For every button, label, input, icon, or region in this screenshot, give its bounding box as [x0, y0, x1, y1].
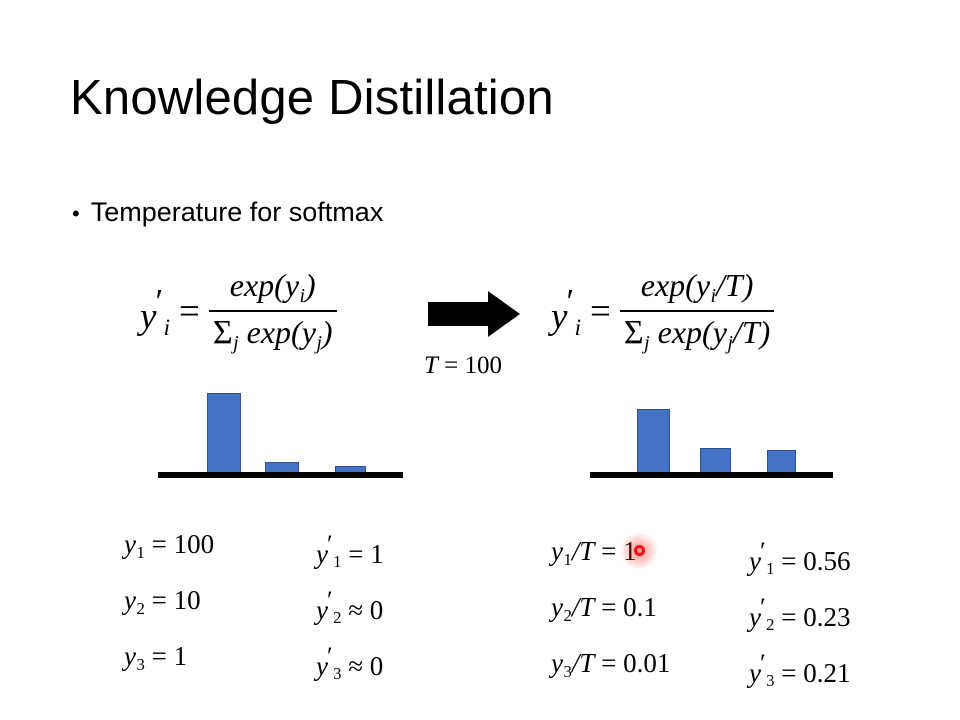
left-prob-2-prime: ′	[327, 585, 333, 614]
right-den-sigma-sub: j	[644, 332, 650, 354]
left-numerator: exp(yi)	[226, 268, 320, 307]
left-logit-2-var: y	[124, 585, 136, 615]
left-prob-2-value: 0	[370, 595, 384, 625]
right-logit-3-value: 0.01	[623, 648, 670, 678]
right-logit-2-sub: 2	[563, 606, 571, 625]
right-num-body: exp(y	[641, 267, 710, 303]
left-logit-2-op: =	[152, 585, 167, 615]
page-title: Knowledge Distillation	[70, 72, 554, 126]
right-prob-row-3: y′3 = 0.21	[749, 650, 850, 690]
left-equals-sign: =	[179, 293, 200, 330]
right-lhs-var: y	[551, 296, 567, 337]
temperature-op: =	[444, 352, 458, 379]
bar-left-0	[207, 393, 241, 475]
left-num-body: exp(y	[230, 267, 299, 303]
right-prob-1-value: 0.56	[803, 546, 850, 576]
left-fraction: exp(yi) Σj exp(yj)	[209, 268, 337, 354]
right-den-tail: /T)	[733, 314, 770, 350]
right-prob-3-value: 0.21	[803, 658, 850, 688]
left-den-tail: )	[322, 314, 333, 350]
right-softmax-formula: y′i = exp(yi/T) Σj exp(yj/T)	[551, 268, 774, 354]
right-prob-2-prime: ′	[760, 592, 766, 621]
right-logit-3-suffix: /T	[572, 648, 595, 678]
left-den-sigma: Σ	[213, 314, 233, 351]
left-softmax-formula: y′i = exp(yi) Σj exp(yj)	[140, 268, 337, 354]
left-prob-row-3: y′3 ≈ 0	[316, 643, 383, 683]
left-prob-2-op: ≈	[348, 595, 363, 625]
left-logit-row-3: y3 = 1	[124, 643, 187, 673]
left-logit-2-value: 10	[174, 585, 201, 615]
right-lhs-sub: i	[575, 315, 581, 340]
right-logit-3-var: y	[551, 648, 563, 678]
right-chart-baseline	[590, 472, 833, 478]
left-prob-2-sub: 2	[333, 608, 341, 627]
left-prob-1-sub: 1	[333, 552, 341, 571]
right-logit-2-suffix: /T	[572, 592, 595, 622]
right-lhs-prime: ′	[566, 282, 574, 321]
right-prob-1-prime: ′	[760, 536, 766, 565]
right-logit-1-suffix: /T	[572, 536, 595, 566]
left-logit-row-1: y1 = 100	[124, 531, 214, 561]
left-logit-2-sub: 2	[136, 599, 144, 618]
right-logit-1-op: =	[601, 536, 616, 566]
right-equals-sign: =	[590, 293, 611, 330]
right-logit-3-sub: 3	[563, 662, 571, 681]
left-num-tail: )	[305, 267, 316, 303]
left-chart-baseline	[158, 472, 403, 478]
bar-right-0	[637, 409, 670, 475]
right-prob-3-op: =	[781, 658, 796, 688]
right-prob-row-2: y′2 = 0.23	[749, 594, 850, 634]
bullet-item-label: Temperature for softmax	[91, 197, 384, 228]
left-prob-row-2: y′2 ≈ 0	[316, 587, 383, 627]
left-logit-row-2: y2 = 10	[124, 587, 201, 617]
temperature-var: T	[424, 352, 438, 379]
left-prob-1-prime: ′	[327, 529, 333, 558]
left-den-sigma-sub: j	[233, 332, 239, 354]
right-den-sigma: Σ	[624, 314, 644, 351]
right-logit-2-op: =	[601, 592, 616, 622]
right-logit-row-3: y3/T = 0.01	[551, 650, 670, 680]
right-logit-1-var: y	[551, 536, 563, 566]
right-fraction: exp(yi/T) Σj exp(yj/T)	[620, 268, 774, 354]
left-bar-chart	[150, 386, 410, 481]
left-prob-1-value: 1	[370, 539, 384, 569]
right-prob-3-sub: 3	[766, 671, 774, 690]
left-lhs-var: y	[140, 296, 156, 337]
right-logit-2-var: y	[551, 592, 563, 622]
left-prob-row-1: y′1 = 1	[316, 531, 384, 571]
left-prob-3-prime: ′	[327, 641, 333, 670]
temperature-label: T = 100	[424, 353, 502, 378]
left-formula-lhs: y′i	[140, 284, 170, 339]
right-prob-row-1: y′1 = 0.56	[749, 538, 850, 578]
right-formula-lhs: y′i	[551, 284, 581, 339]
transition-arrow-icon	[428, 289, 520, 339]
right-prob-2-op: =	[781, 602, 796, 632]
right-prob-1-sub: 1	[766, 559, 774, 578]
right-num-tail: /T)	[716, 267, 753, 303]
right-logit-1-sub: 1	[563, 550, 571, 569]
right-logit-3-op: =	[601, 648, 616, 678]
right-bar-chart	[582, 386, 842, 481]
left-denominator: Σj exp(yj)	[209, 315, 337, 354]
left-logit-1-op: =	[152, 529, 167, 559]
right-prob-2-value: 0.23	[803, 602, 850, 632]
left-lhs-prime: ′	[155, 282, 163, 321]
left-logit-1-var: y	[124, 529, 136, 559]
slide-canvas: Knowledge Distillation • Temperature for…	[0, 0, 960, 720]
left-lhs-sub: i	[164, 315, 170, 340]
left-logit-3-sub: 3	[136, 655, 144, 674]
right-logit-2-value: 0.1	[623, 592, 657, 622]
left-prob-1-op: =	[348, 539, 363, 569]
right-fraction-bar	[620, 310, 774, 312]
right-logit-row-1: y1/T = 1	[551, 538, 637, 568]
temperature-value: 100	[465, 352, 503, 379]
left-logit-1-sub: 1	[136, 543, 144, 562]
left-den-body: exp(y	[247, 314, 316, 350]
bullet-item: • Temperature for softmax	[72, 197, 383, 228]
left-fraction-bar	[209, 310, 337, 312]
bar-right-1	[700, 448, 731, 475]
left-logit-3-value: 1	[174, 641, 188, 671]
right-prob-3-prime: ′	[760, 648, 766, 677]
right-denominator: Σj exp(yj/T)	[620, 315, 774, 354]
left-prob-3-value: 0	[370, 651, 384, 681]
right-logit-1-value: 1	[623, 536, 637, 566]
right-prob-1-op: =	[781, 546, 796, 576]
left-prob-3-op: ≈	[348, 651, 363, 681]
left-logit-1-value: 100	[174, 529, 215, 559]
right-numerator: exp(yi/T)	[637, 268, 758, 307]
bullet-dot-icon: •	[72, 203, 80, 225]
right-prob-2-sub: 2	[766, 615, 774, 634]
right-den-body: exp(y	[658, 314, 727, 350]
right-logit-row-2: y2/T = 0.1	[551, 594, 657, 624]
left-logit-3-op: =	[152, 641, 167, 671]
left-prob-3-sub: 3	[333, 664, 341, 683]
left-logit-3-var: y	[124, 641, 136, 671]
